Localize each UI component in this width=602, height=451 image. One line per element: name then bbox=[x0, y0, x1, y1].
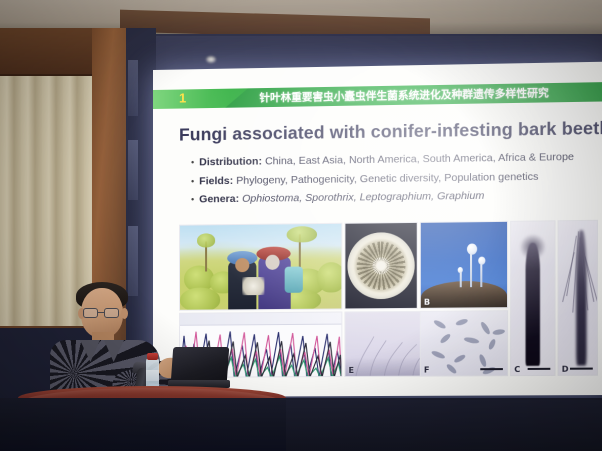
wall-strip-upper bbox=[128, 60, 138, 116]
bullet-distribution: • Distribution: China, East Asia, North … bbox=[191, 150, 599, 168]
presenter-ear-right bbox=[121, 308, 128, 319]
synnema-head-3 bbox=[458, 267, 463, 273]
panel-field-photo bbox=[179, 223, 342, 311]
panel-label-b: B bbox=[424, 298, 430, 307]
slide-banner: 1 针叶林重要害虫小蠹虫伴生菌系统进化及种群遗传多样性研究 bbox=[153, 82, 602, 109]
bark-substrate bbox=[421, 281, 507, 308]
synnema-stalk-main bbox=[470, 251, 472, 288]
bullet-marker-icon: • bbox=[191, 195, 194, 204]
field-backpack bbox=[285, 267, 303, 293]
foreground-table bbox=[286, 400, 602, 451]
bullet-key-fields: Fields: bbox=[199, 174, 233, 186]
bullet-key-distribution: Distribution: bbox=[199, 155, 262, 168]
panel-label-c: C bbox=[514, 365, 520, 374]
synnema-column bbox=[526, 243, 540, 366]
panel-petri-culture bbox=[344, 222, 417, 310]
panel-label-e: E bbox=[348, 366, 354, 375]
bullet-value-distribution: China, East Asia, North America, South A… bbox=[265, 151, 574, 168]
wall-strip-mid bbox=[128, 140, 138, 200]
bullet-marker-icon: • bbox=[191, 158, 194, 167]
panel-mycelium-d: D bbox=[558, 220, 598, 376]
glasses-lens-right bbox=[104, 308, 119, 318]
synnema-stalk-2 bbox=[480, 263, 482, 287]
field-sample bbox=[242, 277, 264, 295]
bottle-label bbox=[146, 370, 159, 381]
bullet-value-genera: Ophiostoma, Sporothrix, Leptographium, G… bbox=[242, 190, 484, 205]
slide-title: Fungi associated with conifer-infesting … bbox=[179, 117, 602, 145]
banner-number: 1 bbox=[179, 90, 187, 105]
fungal-colony bbox=[347, 232, 414, 299]
bullet-marker-icon: • bbox=[191, 177, 194, 186]
glasses-lens-left bbox=[83, 308, 98, 318]
colony-radial-pattern bbox=[357, 241, 406, 290]
panel-synnema-c: C bbox=[510, 220, 555, 376]
bullet-fields: • Fields: Phylogeny, Pathogenicity, Gene… bbox=[191, 169, 599, 187]
panel-spores-f: F bbox=[420, 310, 508, 376]
synnema-head-main bbox=[467, 244, 477, 255]
panel-synnema-b: B bbox=[420, 221, 508, 309]
panel-label-d: D bbox=[562, 365, 569, 374]
banner-chinese-bar: 针叶林重要害虫小蠹虫伴生菌系统进化及种群遗传多样性研究 bbox=[225, 82, 602, 108]
slide-bullet-list: • Distribution: China, East Asia, North … bbox=[191, 150, 599, 212]
glasses-bridge bbox=[98, 312, 104, 313]
bottle-cap bbox=[147, 353, 158, 360]
synnema-stalk-3 bbox=[460, 271, 462, 287]
bullet-value-fields: Phylogeny, Pathogenicity, Genetic divers… bbox=[236, 170, 538, 186]
synnema-head-2 bbox=[478, 257, 485, 265]
laptop-screen bbox=[171, 347, 230, 383]
ceiling-light-left bbox=[206, 56, 216, 63]
banner-chinese-title: 针叶林重要害虫小蠹虫伴生菌系统进化及种群遗传多样性研究 bbox=[259, 85, 548, 105]
panel-label-f: F bbox=[424, 365, 430, 374]
bullet-genera: • Genera: Ophiostoma, Sporothrix, Leptog… bbox=[191, 188, 599, 205]
slide-image-grid: B E bbox=[179, 220, 598, 378]
scale-bar-d bbox=[570, 368, 593, 370]
presentation-scene: 1 针叶林重要害虫小蠹虫伴生菌系统进化及种群遗传多样性研究 Fungi asso… bbox=[0, 0, 602, 451]
bullet-key-genera: Genera: bbox=[199, 193, 239, 206]
scale-bar-f bbox=[480, 368, 503, 370]
curtain-valance bbox=[0, 28, 94, 76]
scale-bar-c bbox=[528, 368, 551, 370]
